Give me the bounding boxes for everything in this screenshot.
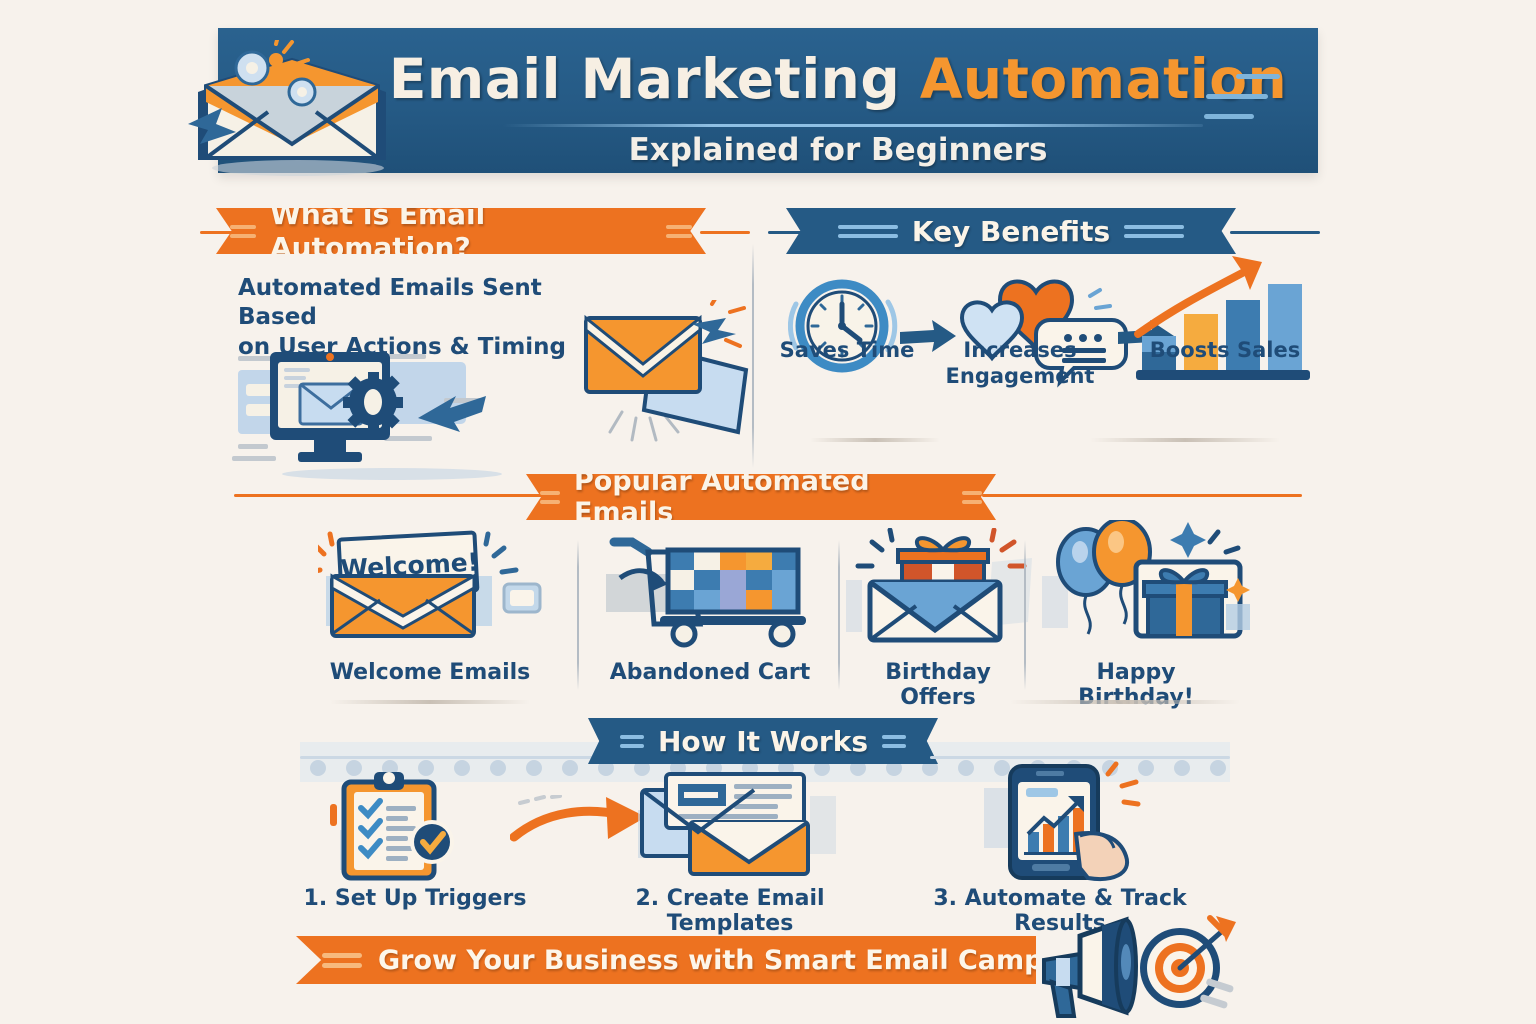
page-title: Email Marketing Automation (388, 52, 1288, 107)
popular-divider-1 (577, 540, 579, 690)
hiw-ribbon-dashes-right (882, 735, 906, 748)
popular-label-birthday-offers: Birthday Offers (848, 660, 1028, 710)
footer-call-to-action: Grow Your Business with Smart Email Camp… (378, 945, 1138, 976)
hiw-banner-label: How It Works (658, 725, 868, 758)
popular-underline-right (1010, 700, 1240, 704)
page-subtitle: Explained for Beginners (388, 132, 1288, 168)
step-label-1: 1. Set Up Triggers (290, 886, 540, 911)
popular-banner-label: Popular Automated Emails (574, 466, 948, 528)
popular-divider-3 (1024, 540, 1026, 690)
popular-ribbon-dashes-left (540, 491, 560, 504)
infographic-canvas: Email Marketing Automation Explained for… (0, 0, 1536, 1024)
benefit-label-line2: Engagement (930, 364, 1110, 390)
popular-ribbon-dashes-right (962, 491, 982, 504)
speed-lines-icon (1170, 70, 1280, 128)
popular-label-abandoned-cart: Abandoned Cart (590, 660, 830, 685)
step-label-2: 2. Create Email Templates (580, 886, 880, 936)
shopping-cart-icon (596, 528, 826, 648)
hiw-rule-left (300, 756, 600, 759)
popular-divider-2 (838, 540, 840, 690)
popular-rule-right (982, 494, 1302, 497)
benefit-label-boosts-sales: Boosts Sales (1130, 338, 1320, 364)
arrow-right-icon (510, 795, 650, 855)
benefit-underline-right (1090, 438, 1280, 442)
title-part-primary: Email Marketing (389, 47, 920, 111)
footer-banner: Grow Your Business with Smart Email Camp… (296, 936, 1036, 984)
monitor-email-gear-icon (232, 340, 562, 480)
clipboard-checklist-icon (326, 768, 496, 884)
section-key-benefits: Saves Time Increases Engagement Boosts S… (780, 208, 1320, 468)
megaphone-icon (1044, 920, 1136, 1016)
clock-icon (788, 270, 900, 382)
popular-rule-left (234, 494, 554, 497)
phone-analytics-icon (980, 760, 1170, 886)
balloons-gift-icon (1040, 520, 1250, 650)
sent-envelope-icon (560, 300, 750, 460)
benefit-label-saves-time: Saves Time (772, 338, 922, 364)
benefit-label-line1: Boosts Sales (1130, 338, 1320, 364)
benefit-label-line1: Saves Time (772, 338, 922, 364)
section-divider-vertical (752, 244, 754, 468)
target-dartboard-icon (1140, 916, 1236, 1009)
popular-underline-left (330, 700, 530, 704)
benefit-underline-left (810, 438, 940, 442)
popular-label-welcome-emails: Welcome Emails (300, 660, 560, 685)
hiw-rule-right (930, 756, 1230, 759)
welcome-envelope-icon: Welcome! (318, 528, 548, 648)
megaphone-target-icon (1030, 912, 1240, 1022)
benefit-label-increases-engagement: Increases Engagement (930, 338, 1110, 389)
envelope-gear-icon (180, 40, 410, 180)
bar-chart-growth-icon (1128, 252, 1318, 388)
gift-envelope-icon (846, 528, 1036, 648)
section-banner-popular-automated-emails: Popular Automated Emails (526, 474, 996, 520)
email-template-icon (630, 770, 840, 886)
hiw-ribbon-dashes-left (620, 735, 644, 748)
what-description-line1: Automated Emails Sent Based (238, 274, 568, 333)
title-underline (503, 124, 1203, 127)
benefit-label-line1: Increases (930, 338, 1110, 364)
footer-dashes (322, 953, 362, 968)
section-banner-how-it-works: How It Works (588, 718, 938, 764)
